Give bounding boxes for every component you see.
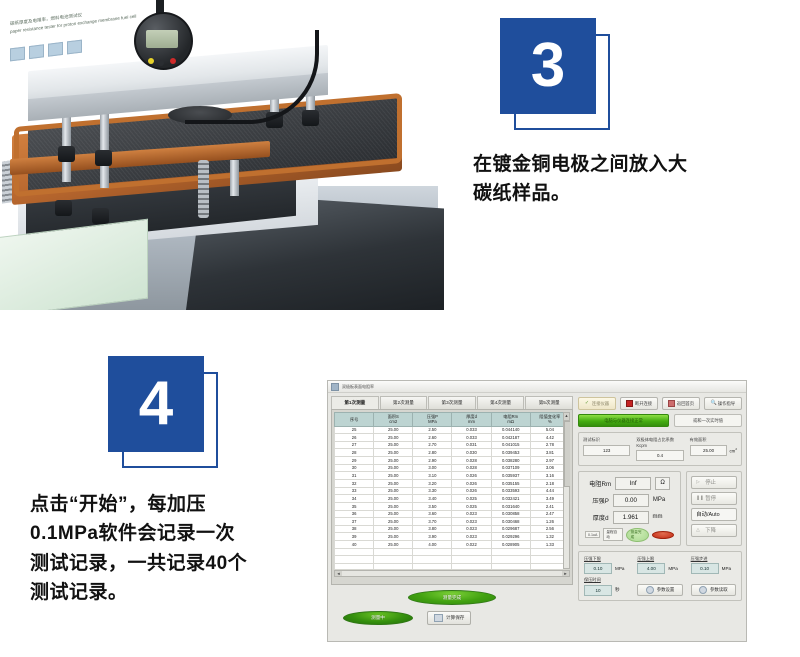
step-3-text: 在镀金铜电极之间放入大 碳纸样品。 (473, 150, 773, 209)
cell-resistance: 0.039453 (491, 449, 530, 457)
cell-pressure: 2.90 (413, 457, 452, 465)
cell-resistance: 0.029687 (491, 525, 530, 533)
dial-button-red (170, 58, 176, 64)
param-set-label: 参数设置 (657, 587, 675, 593)
cell-area: 25.00 (374, 457, 413, 465)
cell-pressure: 2.60 (413, 434, 452, 442)
cell-index: 31 (335, 472, 374, 480)
cell-area: 25.00 (374, 495, 413, 503)
cell-thickness: 0.033 (452, 434, 491, 442)
cell-area: 25.00 (374, 426, 413, 434)
post-foot (92, 208, 109, 224)
gear-icon (646, 586, 654, 594)
descend-button[interactable]: △ 下降 (691, 524, 737, 537)
measure-and-control-row: 电阻Rm Inf Ω 压强P 0.00 MPa 厚度d 1.961 mm (578, 471, 742, 546)
pressure-step-unit: MPa (722, 566, 731, 571)
cell-pressure: 3.90 (413, 533, 452, 541)
table-row[interactable]: 2525.002.500.0330.0441405.04 (335, 426, 570, 434)
cell-index: 32 (335, 479, 374, 487)
pressure-step-label: 压强步进 (691, 556, 736, 562)
cell-pressure: 3.50 (413, 502, 452, 510)
dial-button-black (158, 60, 164, 66)
check-icon: ✓ (585, 401, 590, 406)
cell-thickness: 0.026 (452, 487, 491, 495)
table-row[interactable]: 3825.003.800.0230.0296872.56 (335, 525, 570, 533)
return-home-button[interactable]: 返回首页 (662, 397, 700, 410)
table-row-empty (335, 564, 570, 569)
param-area-value[interactable]: 25.00 (690, 445, 728, 456)
cell-index: 34 (335, 495, 374, 503)
left-pane: 第1次测量 第2次测量 第3次测量 第4次测量 第5次测量 序号 (328, 393, 576, 642)
cell-area: 25.00 (374, 510, 413, 518)
table-row-empty (335, 556, 570, 564)
cell-thickness: 0.030 (452, 449, 491, 457)
calc-save-label: 计算保存 (446, 615, 464, 621)
nameplate-text: 碳纸厚度及电阻率，燃料电池测试仪 paper resistance tester… (10, 4, 142, 36)
calc-save-button[interactable]: 计算保存 (427, 611, 471, 625)
param-read-button[interactable]: 参数读取 (691, 584, 736, 596)
cell-thickness: 0.022 (452, 541, 491, 549)
cell-index: 39 (335, 533, 374, 541)
pressure-step-cell: 压强步进 0.10 MPa (691, 556, 736, 575)
cell-area: 25.00 (374, 502, 413, 510)
status-row: 电脑与仪器连接正常 或和一次实时值 (578, 414, 742, 427)
tab-measurement-4[interactable]: 第4次测量 (477, 396, 525, 409)
col-thickness: 厚度d mm (452, 413, 491, 427)
live-measurements-group: 电阻Rm Inf Ω 压强P 0.00 MPa 厚度d 1.961 mm (578, 471, 681, 546)
cell-resistance: 0.029296 (491, 533, 530, 541)
up-icon: △ (696, 527, 701, 533)
cell-resistance: 0.042187 (491, 434, 530, 442)
alarm-indicator (652, 531, 674, 539)
cell-pressure: 3.20 (413, 479, 452, 487)
cell-resistance: 0.032421 (491, 495, 530, 503)
hold-time-value[interactable]: 10 (584, 585, 612, 596)
measuring-status-button[interactable]: 测量中 (343, 611, 413, 625)
step-4-number: 4 (108, 356, 204, 452)
col-pressure: 压强P MPa (413, 413, 452, 427)
tab-measurement-3[interactable]: 第3次测量 (428, 396, 476, 409)
resistance-unit: Ω (655, 477, 670, 490)
step-3-badge: 3 (500, 18, 630, 148)
cell-thickness: 0.033 (452, 426, 491, 434)
cell-resistance: 0.041015 (491, 441, 530, 449)
cell-area: 25.00 (374, 487, 413, 495)
cell-resistance: 0.037109 (491, 464, 530, 472)
cell-area: 25.00 (374, 464, 413, 472)
cell-pressure: 3.40 (413, 495, 452, 503)
post-foot (302, 110, 319, 126)
param-set-button[interactable]: 参数设置 (637, 584, 682, 596)
pause-icon: ❚❚ (696, 495, 701, 501)
cell-pressure: 3.30 (413, 487, 452, 495)
table-row[interactable]: 3425.003.400.0250.0324213.49 (335, 495, 570, 503)
param-test-id-value[interactable]: 123 (583, 445, 630, 456)
cell-resistance: 0.035155 (491, 479, 530, 487)
cell-thickness: 0.023 (452, 518, 491, 526)
cell-index: 28 (335, 449, 374, 457)
cell-thickness: 0.023 (452, 525, 491, 533)
tab-measurement-1[interactable]: 第1次测量 (331, 396, 379, 409)
cell-pressure: 3.70 (413, 518, 452, 526)
post-foot (58, 146, 75, 162)
disconnect-label: 断开连接 (635, 401, 652, 407)
cell-pressure: 3.00 (413, 464, 452, 472)
param-area-label: 有效面积 (690, 437, 737, 443)
stop-label: 停止 (705, 478, 716, 486)
pressure-upper-cell: 压强上限 4.00 MPa (637, 556, 682, 575)
scroll-left-arrow[interactable]: ◄ (335, 571, 342, 576)
table-horizontal-scrollbar[interactable]: ◄ ► (334, 570, 570, 577)
pressure-step-value[interactable]: 0.10 (691, 563, 719, 574)
results-grid-wrap: 序号 面积S cm2 压强P MPa (334, 412, 570, 569)
motion-controls-group: ▷ 停止 ❚❚ 暂停 自动/Auto △ 下降 (686, 471, 742, 546)
table-row[interactable]: 3525.003.500.0250.0316402.41 (335, 502, 570, 510)
pressure-upper-value[interactable]: 4.00 (637, 563, 665, 574)
cell-resistance: 0.035937 (491, 472, 530, 480)
table-row[interactable]: 2825.002.800.0300.0394533.81 (335, 449, 570, 457)
cell-thickness: 0.023 (452, 533, 491, 541)
cell-thickness: 0.031 (452, 441, 491, 449)
param-set-cell: 参数设置 (637, 584, 682, 596)
col-resistance: 电阻Rm mΩ (491, 413, 530, 427)
toolbar: ✓ 连接仪器 断开连接 返回首页 🔍 操作指导 (578, 397, 742, 410)
operation-guide-button[interactable]: 🔍 操作指导 (704, 397, 742, 410)
cell-index: 36 (335, 510, 374, 518)
hold-time-cell: 保压时间 10 秒 (584, 577, 629, 596)
cell-index: 25 (335, 426, 374, 434)
hold-time-label: 保压时间 (584, 577, 629, 583)
cell-area: 25.00 (374, 479, 413, 487)
cell-resistance: 0.033593 (491, 487, 530, 495)
magnifier-icon: 🔍 (711, 401, 716, 406)
table-row[interactable]: 2725.002.700.0310.0410152.78 (335, 441, 570, 449)
pressure-lower-value[interactable]: 0.10 (584, 563, 612, 574)
pressure-upper-unit: MPa (668, 566, 677, 571)
cell-pressure: 2.50 (413, 426, 452, 434)
measurement-resistance: 电阻Rm Inf Ω (585, 477, 674, 490)
post-foot (55, 200, 72, 216)
realtime-status-indicator: 或和一次实时值 (674, 414, 742, 427)
thickness-value: 1.961 (613, 511, 649, 524)
descend-label: 下降 (705, 526, 716, 534)
results-table-body: 2525.002.500.0330.0441405.042625.002.600… (335, 426, 570, 569)
cell-index: 38 (335, 525, 374, 533)
param-area-unit: cm2 (729, 447, 737, 453)
table-header-row: 序号 面积S cm2 压强P MPa (335, 413, 570, 427)
auto-range-indicator: 量程自动 (603, 528, 622, 541)
tab-measurement-2[interactable]: 第2次测量 (380, 396, 428, 409)
cell-index: 37 (335, 518, 374, 526)
connect-instrument-label: 连接仪器 (592, 401, 609, 407)
pressure-upper-label: 压强上限 (637, 556, 682, 562)
app-icon (331, 383, 339, 391)
table-row[interactable]: 3325.003.300.0260.0335934.44 (335, 487, 570, 495)
cell-area: 25.00 (374, 441, 413, 449)
connection-status-indicator: 电脑与仪器连接正常 (578, 414, 669, 427)
param-kcpm-label: 双极体电阻占比系数Kcpm (636, 437, 683, 448)
cell-pressure: 3.10 (413, 472, 452, 480)
pressure-lower-cell: 压强下限 0.10 MPa (584, 556, 629, 575)
param-area: 有效面积 25.00 cm2 (690, 437, 737, 461)
cell-pressure: 3.60 (413, 510, 452, 518)
table-row[interactable]: 3125.003.100.0260.0359373.16 (335, 472, 570, 480)
tab-measurement-5[interactable]: 第5次测量 (525, 396, 573, 409)
results-table[interactable]: 序号 面积S cm2 压强P MPa (334, 412, 570, 569)
window-title: 双极板表面电阻率 (342, 384, 374, 390)
cell-pressure: 4.00 (413, 541, 452, 549)
table-row[interactable]: 3225.003.200.0260.0351552.18 (335, 479, 570, 487)
cell-index: 29 (335, 457, 374, 465)
cell-thickness: 0.026 (452, 479, 491, 487)
step-4-badge: 4 (108, 356, 238, 486)
cell-resistance: 0.028905 (491, 541, 530, 549)
pressure-lower-label: 压强下限 (584, 556, 629, 562)
param-test-id: 测试标识 123 (583, 437, 630, 461)
right-pane: ✓ 连接仪器 断开连接 返回首页 🔍 操作指导 电脑与仪器连接正常 (576, 393, 746, 642)
cell-thickness: 0.023 (452, 510, 491, 518)
cell-thickness: 0.028 (452, 464, 491, 472)
auto-mode-label: 自动/Auto (696, 510, 719, 518)
measurement-software-window[interactable]: 双极板表面电阻率 第1次测量 第2次测量 第3次测量 第4次测量 第5次测量 (327, 380, 747, 642)
cell-resistance: 0.030858 (491, 510, 530, 518)
col-index: 序号 (335, 413, 374, 427)
cell-resistance: 0.031640 (491, 502, 530, 510)
hold-and-actions-row: 保压时间 10 秒 参数设置 (584, 577, 736, 596)
pressure-unit: MPa (653, 497, 667, 503)
table-vertical-scrollbar[interactable]: ▲ (563, 412, 570, 569)
guide-post (230, 160, 239, 196)
dial-indicator-display (146, 30, 178, 48)
cell-area: 25.00 (374, 533, 413, 541)
cell-index: 40 (335, 541, 374, 549)
param-read-cell: 参数读取 (691, 584, 736, 596)
scroll-right-arrow[interactable]: ► (562, 571, 569, 576)
table-row[interactable]: 4025.004.000.0220.0289051.33 (335, 541, 570, 549)
post-foot (95, 150, 112, 166)
table-row[interactable]: 3625.003.600.0230.0308582.47 (335, 510, 570, 518)
current-range-indicator: 0.1uA (585, 531, 600, 538)
cell-pressure: 2.80 (413, 449, 452, 457)
cell-thickness: 0.025 (452, 495, 491, 503)
measurement-pressure: 压强P 0.00 MPa (585, 494, 674, 507)
param-kcpm: 双极体电阻占比系数Kcpm 0.4 (636, 437, 683, 461)
pressure-settings-group: 压强下限 0.10 MPa 压强上限 4.00 MPa (578, 551, 742, 601)
cell-resistance: 0.030468 (491, 518, 530, 526)
stop-button[interactable]: ▷ 停止 (691, 476, 737, 489)
cell-index: 33 (335, 487, 374, 495)
param-test-id-label: 测试标识 (583, 437, 630, 443)
measure-done-row: 测量完成 (331, 585, 573, 605)
pressure-value: 0.00 (613, 494, 649, 507)
step-4-text: 点击“开始”，每加压 0.1MPa软件会记录一次 测试记录，一共记录40个 测试… (30, 490, 340, 608)
hold-time-unit: 秒 (615, 587, 620, 593)
table-row[interactable]: 3025.003.000.0280.0371093.06 (335, 464, 570, 472)
pressure-limits-row: 压强下限 0.10 MPa 压强上限 4.00 MPa (584, 556, 736, 575)
return-home-label: 返回首页 (677, 401, 694, 407)
pressure-label: 压强P (592, 496, 609, 505)
cell-area: 25.00 (374, 434, 413, 442)
measurement-tabs[interactable]: 第1次测量 第2次测量 第3次测量 第4次测量 第5次测量 (331, 396, 573, 409)
table-row-empty (335, 548, 570, 556)
col-area: 面积S cm2 (374, 413, 413, 427)
center-spring (198, 160, 209, 218)
apparatus-photo: 碳纸厚度及电阻率，燃料电池测试仪 paper resistance tester… (0, 0, 460, 310)
results-table-frame: 序号 面积S cm2 压强P MPa (331, 409, 573, 585)
thickness-label: 厚度d (593, 513, 609, 522)
pressure-lower-unit: MPa (615, 566, 624, 571)
cell-thickness: 0.028 (452, 457, 491, 465)
test-parameters-group: 测试标识 123 双极体电阻占比系数Kcpm 0.4 有效面积 25.00 cm… (578, 432, 742, 466)
measure-complete-indicator: 测量完成 (626, 528, 649, 542)
operation-guide-label: 操作指导 (718, 401, 735, 407)
step-3-number: 3 (500, 18, 596, 114)
mini-indicator-row: 0.1uA 量程自动 测量完成 (585, 528, 674, 542)
resistance-value: Inf (615, 477, 651, 490)
cell-pressure: 3.80 (413, 525, 452, 533)
bottom-action-row: 测量中 计算保存 (331, 605, 573, 625)
cell-area: 25.00 (374, 472, 413, 480)
cell-index: 27 (335, 441, 374, 449)
cell-index: 35 (335, 502, 374, 510)
cell-area: 25.00 (374, 449, 413, 457)
pause-button[interactable]: ❚❚ 暂停 (691, 492, 737, 505)
cell-thickness: 0.026 (452, 472, 491, 480)
resistance-label: 电阻Rm (589, 479, 611, 488)
gear-icon (699, 586, 707, 594)
nameplate-chips (10, 40, 82, 62)
measurement-thickness: 厚度d 1.961 mm (585, 511, 674, 524)
square-icon (668, 400, 675, 407)
disconnect-button[interactable]: 断开连接 (620, 397, 658, 410)
cell-area: 25.00 (374, 525, 413, 533)
param-read-label: 参数读取 (710, 587, 728, 593)
pause-label: 暂停 (705, 494, 716, 502)
window-titlebar: 双极板表面电阻率 (328, 381, 746, 393)
connect-instrument-button[interactable]: ✓ 连接仪器 (578, 397, 616, 410)
table-row[interactable]: 2925.002.900.0280.0382802.97 (335, 457, 570, 465)
table-row[interactable]: 2625.002.600.0330.0421874.42 (335, 434, 570, 442)
cell-index: 30 (335, 464, 374, 472)
scroll-thumb[interactable] (564, 421, 570, 487)
cell-index: 26 (335, 434, 374, 442)
table-row[interactable]: 3725.003.700.0230.0304681.26 (335, 518, 570, 526)
dial-button-yellow (148, 58, 154, 64)
play-icon: ▷ (696, 479, 701, 485)
cell-resistance: 0.038280 (491, 457, 530, 465)
stop-square-icon (626, 400, 633, 407)
measure-done-button[interactable]: 测量完成 (408, 590, 496, 605)
save-icon (434, 614, 443, 622)
scroll-up-arrow[interactable]: ▲ (564, 413, 569, 421)
table-row[interactable]: 3925.003.900.0230.0292961.32 (335, 533, 570, 541)
cell-pressure: 2.70 (413, 441, 452, 449)
auto-mode-button[interactable]: 自动/Auto (691, 508, 737, 521)
cell-thickness: 0.025 (452, 502, 491, 510)
param-kcpm-value[interactable]: 0.4 (636, 450, 683, 461)
cell-area: 25.00 (374, 541, 413, 549)
thickness-unit: mm (653, 514, 667, 520)
cell-resistance: 0.044140 (491, 426, 530, 434)
cell-area: 25.00 (374, 518, 413, 526)
